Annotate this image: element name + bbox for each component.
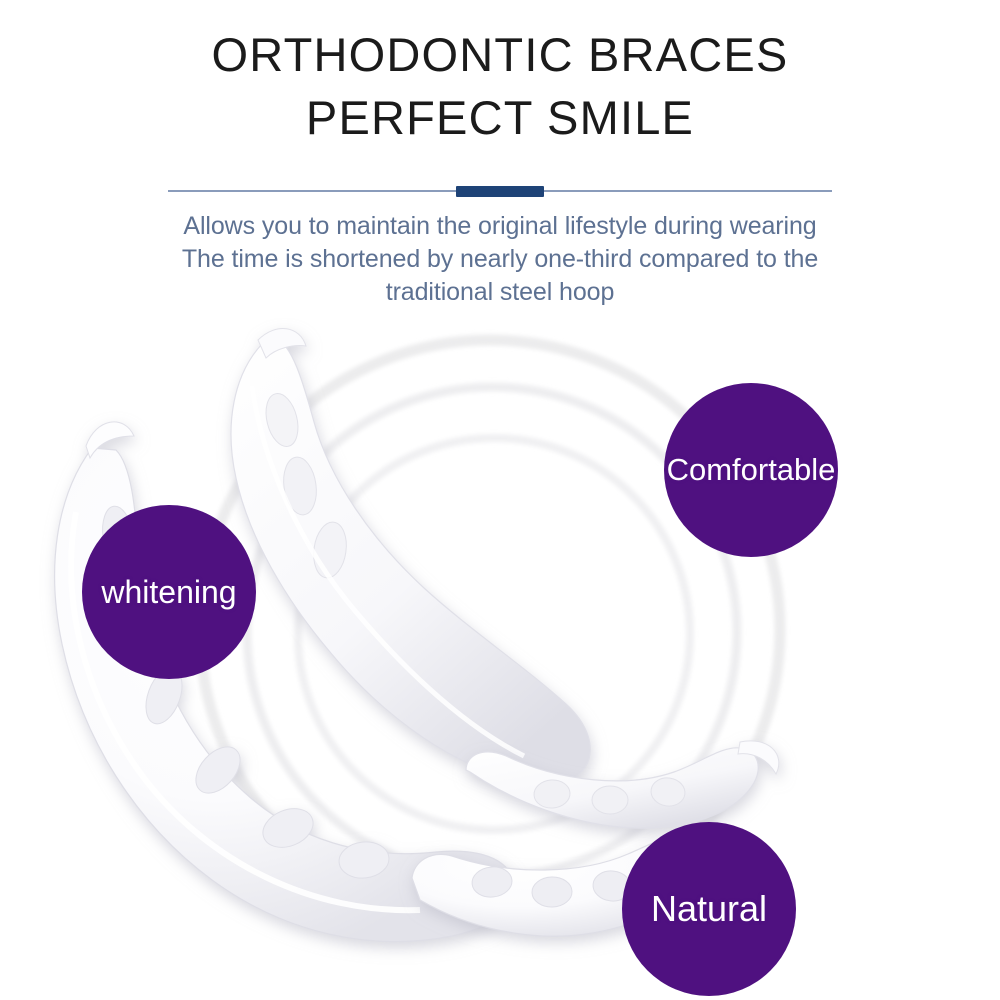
product-marketing-image: ORTHODONTIC BRACES PERFECT SMILE Allows … <box>0 0 1000 1000</box>
page-title: ORTHODONTIC BRACES PERFECT SMILE <box>0 0 1000 149</box>
feature-badge-comfortable[interactable]: Comfortable <box>664 383 838 557</box>
subtitle-line-1: Allows you to maintain the original life… <box>0 210 1000 243</box>
title-line-2: PERFECT SMILE <box>0 87 1000 150</box>
feature-badge-natural-label: Natural <box>651 888 767 930</box>
divider-center-accent <box>456 186 544 197</box>
subtitle-line-2: The time is shortened by nearly one-thir… <box>0 243 1000 276</box>
feature-badge-whitening-label: whitening <box>101 574 236 611</box>
title-line-1: ORTHODONTIC BRACES <box>0 24 1000 87</box>
feature-badge-whitening[interactable]: whitening <box>82 505 256 679</box>
subtitle: Allows you to maintain the original life… <box>0 210 1000 308</box>
feature-badge-comfortable-label: Comfortable <box>667 452 836 488</box>
title-divider <box>168 186 832 196</box>
feature-badge-natural[interactable]: Natural <box>622 822 796 996</box>
header: ORTHODONTIC BRACES PERFECT SMILE <box>0 0 1000 149</box>
